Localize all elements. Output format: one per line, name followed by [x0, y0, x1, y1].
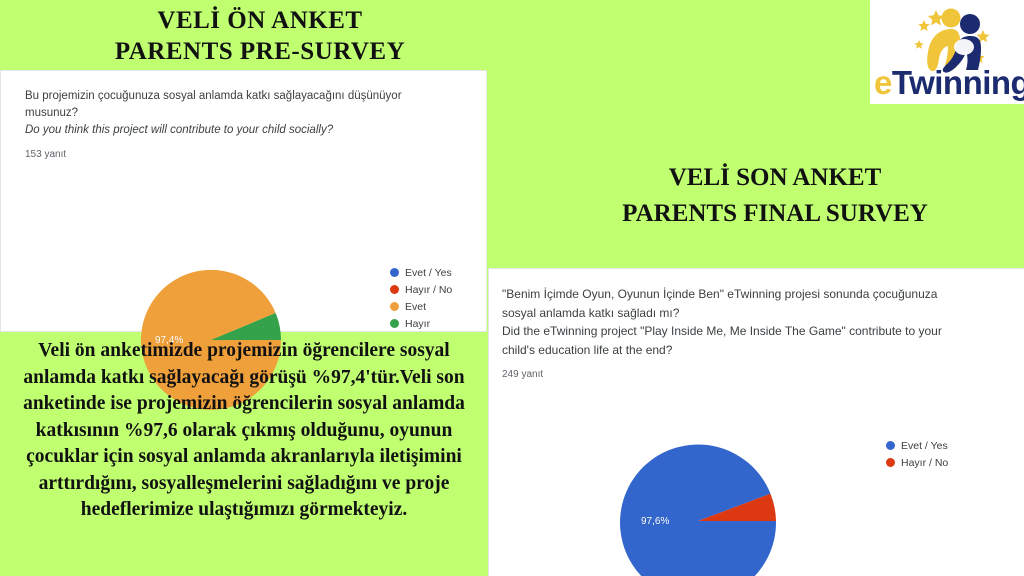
- legend-swatch-icon: [886, 458, 895, 467]
- summary-paragraph: Veli ön anketimizde projemizin öğrencile…: [0, 336, 488, 576]
- final-survey-title-tr: VELİ SON ANKET: [540, 160, 1010, 196]
- legend-item[interactable]: Hayır / No: [886, 455, 948, 470]
- final-survey-question-en-line1: Did the eTwinning project "Play Inside M…: [502, 322, 1000, 341]
- pre-survey-question-block: Bu projemizin çocuğunuza sosyal anlamda …: [1, 71, 486, 160]
- final-survey-legend: Evet / Yes Hayır / No: [886, 438, 948, 472]
- pre-survey-title-tr: VELİ ÖN ANKET: [0, 5, 520, 36]
- etwinning-logo: eTwinning: [870, 0, 1024, 104]
- legend-swatch-icon: [390, 268, 399, 277]
- legend-swatch-icon: [886, 441, 895, 450]
- page-title-pre-survey: VELİ ÖN ANKET PARENTS PRE-SURVEY: [0, 0, 520, 70]
- final-survey-question-tr-line2: sosyal anlamda katkı sağladı mı?: [502, 304, 1000, 323]
- legend-label: Evet: [405, 301, 426, 313]
- legend-swatch-icon: [390, 285, 399, 294]
- final-survey-question-block: "Benim İçimde Oyun, Oyunun İçinde Ben" e…: [489, 269, 1024, 380]
- etwinning-e: e: [874, 64, 892, 101]
- legend-swatch-icon: [390, 319, 399, 328]
- legend-label: Hayır / No: [901, 457, 948, 469]
- final-survey-result-card: "Benim İçimde Oyun, Oyunun İçinde Ben" e…: [488, 268, 1024, 576]
- final-survey-pie-label: 97,6%: [641, 516, 669, 527]
- final-survey-question-tr-line1: "Benim İçimde Oyun, Oyunun İçinde Ben" e…: [502, 285, 1000, 304]
- legend-item[interactable]: Hayır: [390, 316, 452, 331]
- legend-item[interactable]: Hayır / No: [390, 282, 452, 297]
- final-survey-title-en: PARENTS FINAL SURVEY: [540, 196, 1010, 232]
- final-survey-pie: 97,6%: [618, 441, 778, 576]
- legend-item[interactable]: Evet: [390, 299, 452, 314]
- pre-survey-question-tr: Bu projemizin çocuğunuza sosyal anlamda …: [25, 88, 456, 122]
- legend-item[interactable]: Evet / Yes: [886, 438, 948, 453]
- etwinning-wordmark: eTwinning: [874, 66, 1020, 100]
- legend-swatch-icon: [390, 302, 399, 311]
- page-title-final-survey: VELİ SON ANKET PARENTS FINAL SURVEY: [540, 160, 1010, 240]
- legend-item[interactable]: Evet / Yes: [390, 265, 452, 280]
- legend-label: Evet / Yes: [901, 440, 948, 452]
- pre-survey-question-en: Do you think this project will contribut…: [25, 122, 456, 139]
- final-survey-response-count: 249 yanıt: [502, 369, 1000, 380]
- pre-survey-result-card: Bu projemizin çocuğunuza sosyal anlamda …: [0, 70, 487, 332]
- legend-label: Hayır: [405, 318, 430, 330]
- etwinning-rest: Twinning: [892, 64, 1024, 101]
- pre-survey-response-count: 153 yanıt: [25, 149, 456, 160]
- final-survey-question-en-line2: child's education life at the end?: [502, 341, 1000, 360]
- pre-survey-title-en: PARENTS PRE-SURVEY: [0, 36, 520, 67]
- legend-label: Hayır / No: [405, 284, 452, 296]
- legend-label: Evet / Yes: [405, 267, 452, 279]
- pre-survey-legend: Evet / Yes Hayır / No Evet Hayır: [390, 265, 452, 333]
